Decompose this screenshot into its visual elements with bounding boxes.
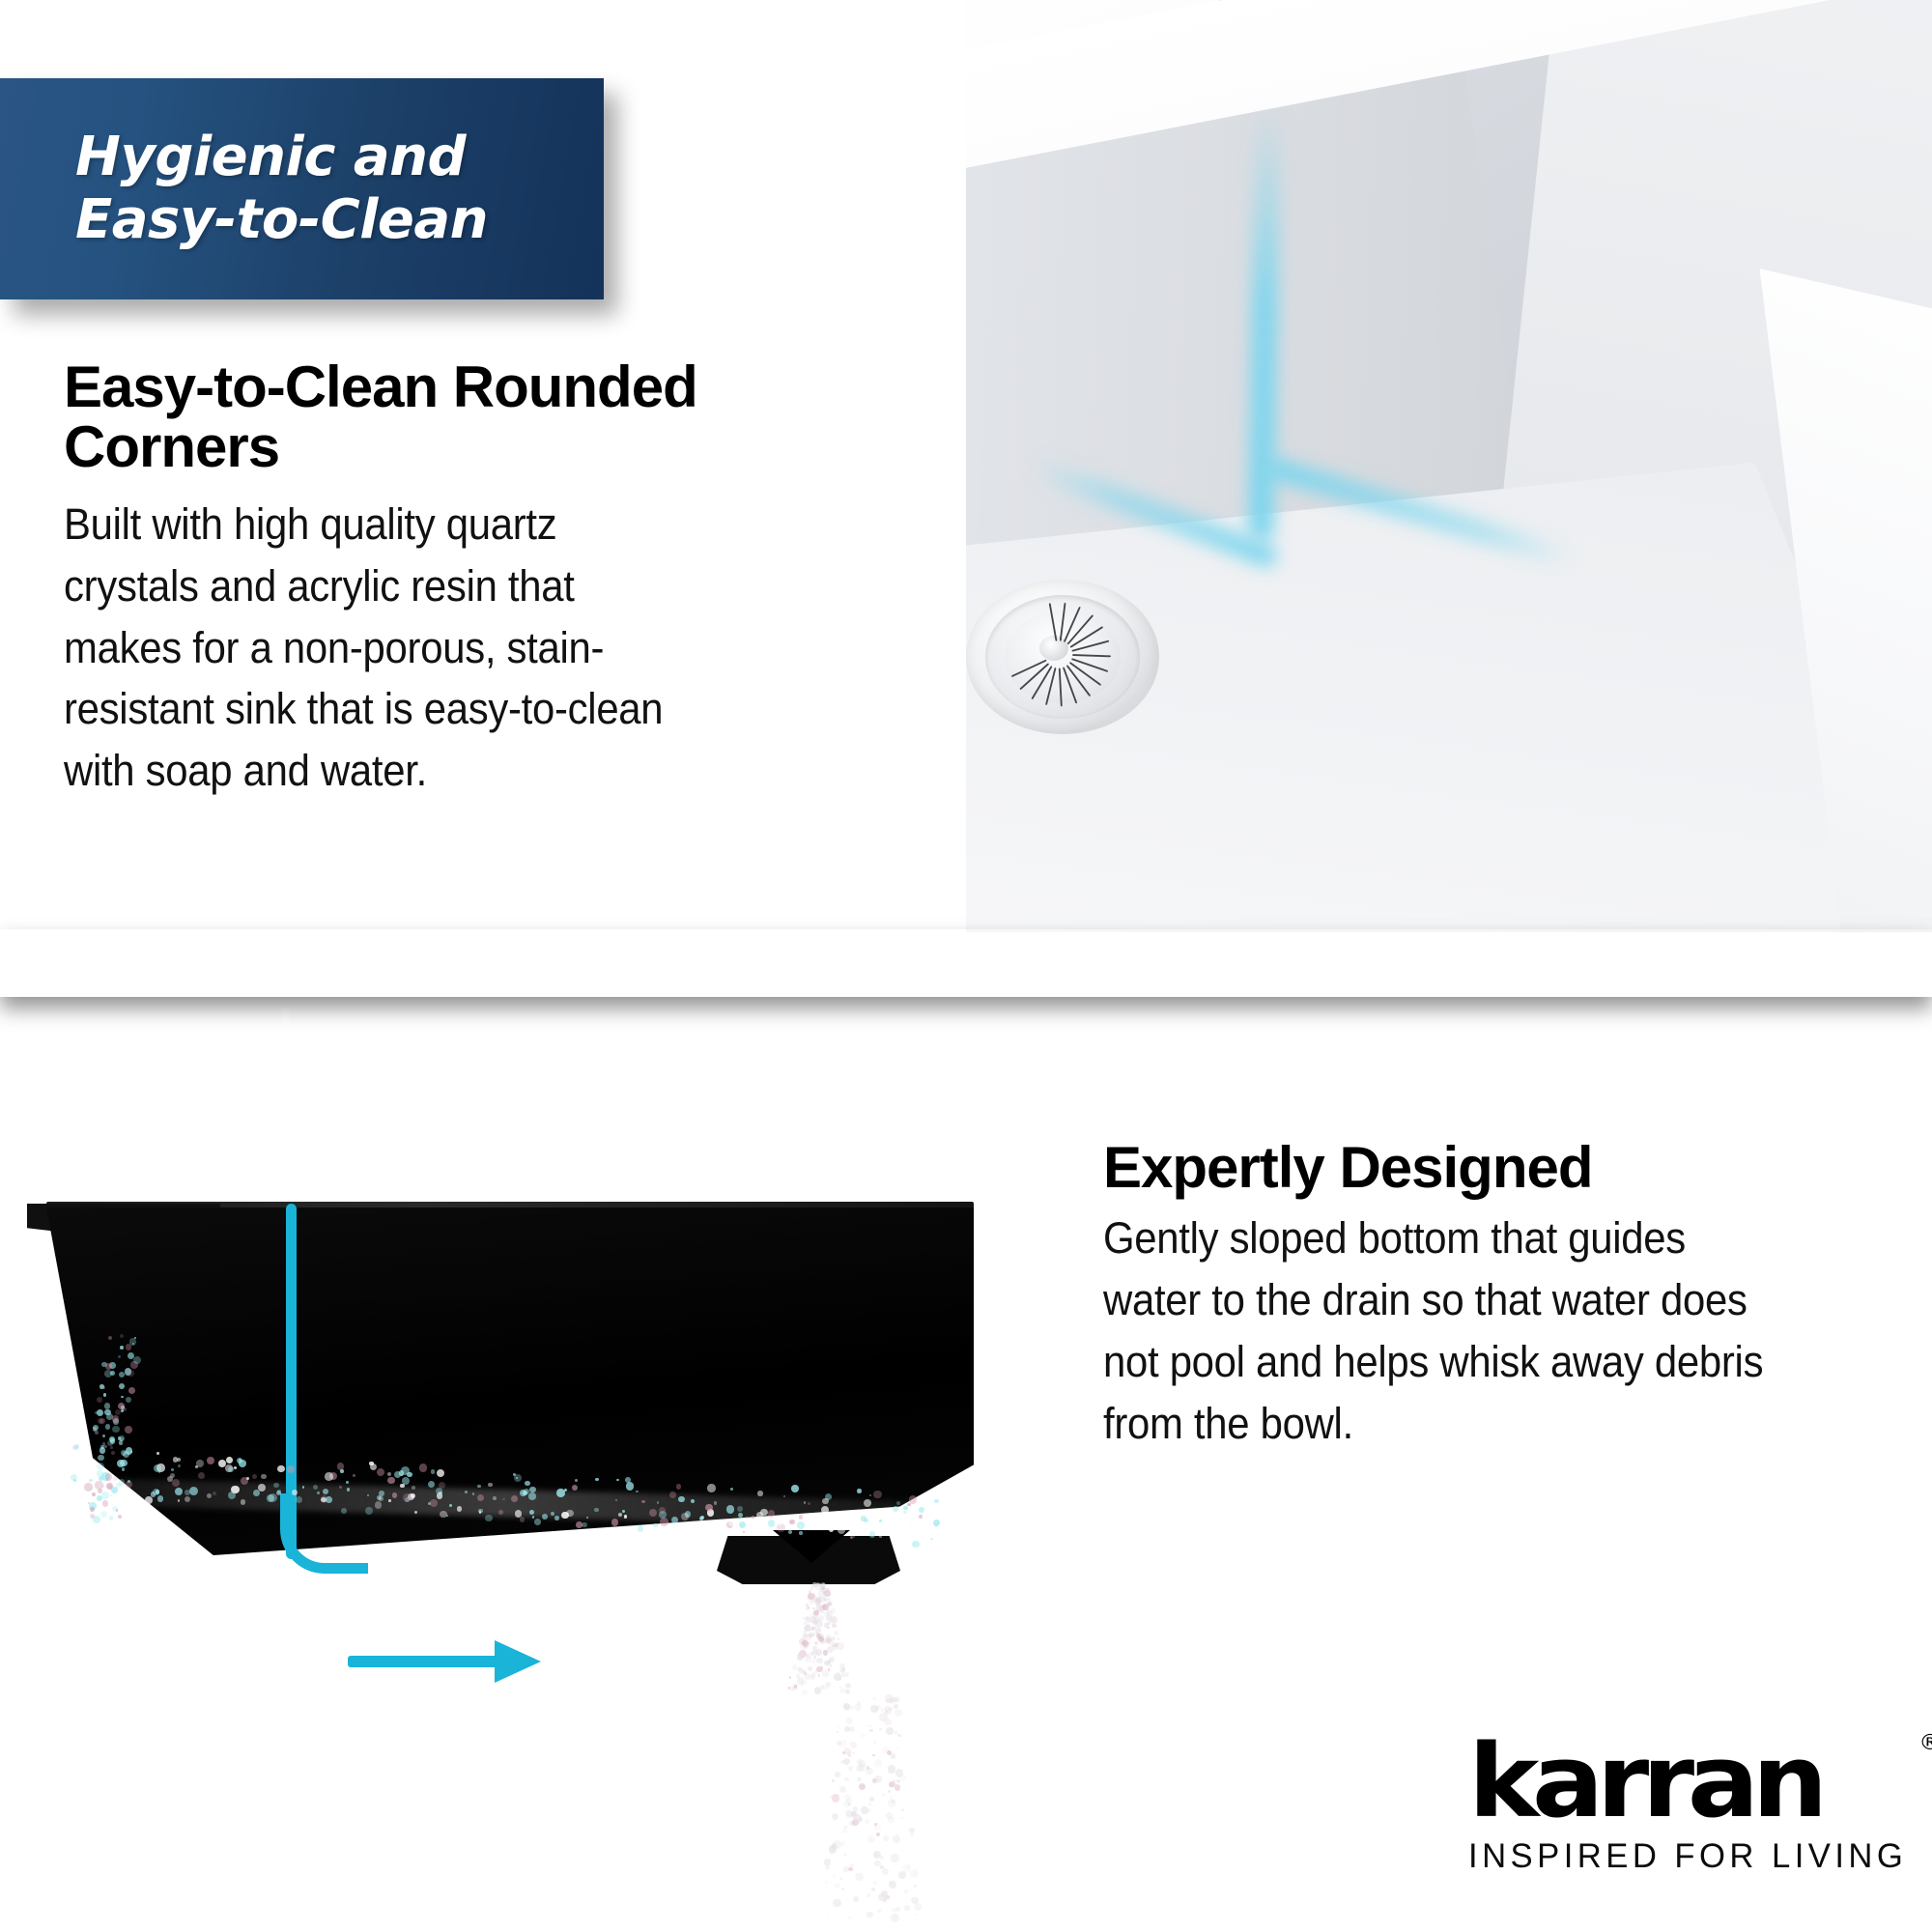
drain-outflow-droplet xyxy=(867,1912,873,1918)
water-splash-particle xyxy=(120,1437,124,1441)
water-splash-particle xyxy=(277,1465,285,1473)
drain-outflow-droplet xyxy=(840,1689,845,1693)
black-sink-photo xyxy=(0,1014,1024,1690)
water-splash-particle xyxy=(472,1492,474,1494)
drain-outflow-droplet xyxy=(857,1701,861,1705)
drain-outflow-droplet xyxy=(830,1618,835,1623)
falling-water-stream xyxy=(282,1005,289,1217)
water-splash-particle xyxy=(157,1495,164,1502)
drain-outflow-droplet xyxy=(850,1706,853,1709)
water-splash-particle xyxy=(705,1504,713,1512)
water-splash-particle xyxy=(768,1520,775,1526)
water-splash-particle xyxy=(746,1517,748,1519)
water-splash-particle xyxy=(102,1500,108,1506)
drain-outflow-droplet xyxy=(904,1889,908,1893)
water-splash-particle xyxy=(195,1465,198,1468)
drain-outflow-droplet xyxy=(848,1917,850,1918)
water-splash-particle xyxy=(554,1516,559,1520)
drain-outflow-droplet xyxy=(893,1835,900,1843)
water-splash-particle xyxy=(738,1513,743,1518)
drain-outflow-droplet xyxy=(867,1893,870,1896)
bottom-heading: Expertly Designed xyxy=(1103,1138,1818,1198)
banner-line-1: Hygienic and xyxy=(75,127,488,189)
water-splash-particle xyxy=(912,1541,919,1548)
water-splash-particle xyxy=(402,1477,410,1485)
drain-outflow-droplet xyxy=(834,1631,838,1635)
drain-outflow-droplet xyxy=(827,1621,831,1625)
water-splash-particle xyxy=(241,1499,246,1505)
drain-outflow-droplet xyxy=(882,1794,884,1796)
drain-outflow-droplet xyxy=(810,1587,813,1590)
drain-outflow-droplet xyxy=(886,1710,888,1712)
drain-outflow-droplet xyxy=(814,1583,821,1590)
drain-outflow-droplet xyxy=(843,1853,847,1857)
water-splash-particle xyxy=(392,1492,397,1497)
water-splash-particle xyxy=(520,1490,526,1496)
water-splash-particle xyxy=(302,1486,304,1488)
drain-outflow-droplet xyxy=(844,1747,851,1754)
drain-outflow-droplet xyxy=(910,1869,919,1878)
water-splash-particle xyxy=(89,1479,92,1482)
water-splash-particle xyxy=(125,1426,132,1434)
water-splash-particle xyxy=(551,1512,554,1516)
drain-outflow-droplet xyxy=(907,1864,911,1868)
drain-outflow-droplet xyxy=(835,1883,840,1889)
drain-outflow-droplet xyxy=(844,1826,846,1828)
water-splash-particle xyxy=(525,1481,529,1486)
karran-wordmark-text: karran xyxy=(1468,1722,1821,1840)
water-splash-particle xyxy=(99,1447,105,1453)
water-splash-particle xyxy=(412,1486,415,1490)
water-splash-particle xyxy=(104,1403,110,1408)
karran-tagline: INSPIRED FOR LIVING xyxy=(1468,1837,1908,1876)
water-splash-particle xyxy=(919,1507,924,1513)
water-flow-curve-icon xyxy=(280,1493,368,1574)
drain-outflow-droplet xyxy=(837,1642,844,1650)
drain-outflow-droplet xyxy=(833,1840,841,1849)
water-splash-particle xyxy=(207,1493,212,1498)
drain-outflow-droplet xyxy=(874,1823,877,1826)
drain-outflow-droplet xyxy=(900,1776,906,1781)
drain-outflow-droplet xyxy=(893,1779,895,1782)
drain-outflow-droplet xyxy=(820,1685,825,1690)
water-splash-particle xyxy=(198,1472,205,1479)
water-splash-particle xyxy=(930,1538,932,1540)
water-splash-particle xyxy=(226,1457,233,1463)
water-splash-particle xyxy=(104,1370,112,1378)
drain-outflow-droplet xyxy=(827,1646,833,1652)
drain-outflow-droplet xyxy=(852,1752,854,1754)
water-splash-particle xyxy=(90,1514,95,1519)
drain-outflow-droplet xyxy=(832,1794,839,1802)
drain-outflow-droplet xyxy=(816,1658,822,1663)
drain-outflow-droplet xyxy=(891,1854,899,1862)
drain-outflow-droplet xyxy=(843,1866,849,1872)
water-splash-particle xyxy=(339,1486,342,1489)
water-splash-particle xyxy=(120,1334,124,1338)
water-splash-particle xyxy=(829,1527,834,1532)
water-splash-particle xyxy=(375,1501,383,1509)
water-splash-particle xyxy=(728,1520,735,1526)
drain-outflow-droplet xyxy=(809,1600,813,1605)
water-splash-particle xyxy=(145,1496,152,1503)
drain-outflow-droplet xyxy=(865,1819,869,1824)
drain-outflow-droplet xyxy=(789,1676,791,1678)
drain-outflow-droplet xyxy=(869,1797,873,1801)
drain-outflow-droplet xyxy=(825,1688,827,1690)
drain-outflow-droplet xyxy=(832,1779,835,1782)
drain-outflow-droplet xyxy=(874,1759,883,1768)
water-splash-particle xyxy=(493,1496,497,1500)
drain-outflow-droplet xyxy=(868,1803,871,1805)
water-splash-particle xyxy=(113,1476,118,1481)
drain-outflow-droplet xyxy=(806,1604,809,1606)
banner-text: Hygienic and Easy-to-Clean xyxy=(0,127,488,252)
water-splash-particle xyxy=(788,1530,792,1534)
water-splash-particle xyxy=(529,1487,536,1493)
water-splash-particle xyxy=(228,1466,234,1472)
drain-outflow-droplet xyxy=(816,1634,821,1638)
water-splash-particle xyxy=(128,1370,133,1376)
drain-outflow-droplet xyxy=(897,1734,901,1738)
water-splash-particle xyxy=(100,1511,106,1517)
drain-outflow-droplet xyxy=(877,1909,881,1913)
water-splash-particle xyxy=(436,1488,442,1494)
sink-drain-strainer xyxy=(966,580,1159,734)
drain-outflow-droplet xyxy=(896,1747,898,1749)
water-splash-particle xyxy=(120,1460,128,1467)
water-splash-particle xyxy=(926,1530,930,1534)
drain-outflow-droplet xyxy=(861,1733,866,1738)
water-splash-particle xyxy=(799,1531,802,1534)
drain-outflow-droplet xyxy=(914,1903,922,1911)
drain-outflow-droplet xyxy=(824,1859,831,1865)
water-splash-particle xyxy=(618,1513,622,1517)
water-splash-particle xyxy=(171,1468,174,1471)
drain-outflow-droplet xyxy=(806,1606,810,1610)
drain-outflow-droplet xyxy=(839,1686,841,1688)
water-splash-particle xyxy=(693,1524,698,1530)
drain-outflow-droplet xyxy=(828,1668,830,1670)
water-splash-particle xyxy=(457,1506,463,1512)
infographic-canvas: Hygienic and Easy-to-Clean Easy-to-Clean… xyxy=(0,0,1932,1932)
water-splash-particle xyxy=(768,1510,775,1517)
water-splash-particle xyxy=(379,1496,384,1501)
water-splash-particle xyxy=(97,1409,103,1416)
water-splash-particle xyxy=(808,1502,810,1505)
water-splash-particle xyxy=(178,1499,180,1501)
drain-outflow-droplet xyxy=(866,1768,873,1776)
drain-outflow-droplet xyxy=(901,1808,905,1812)
drain-outflow-droplet xyxy=(886,1727,894,1735)
water-splash-particle xyxy=(850,1536,853,1539)
drain-outflow-droplet xyxy=(904,1905,910,1911)
drain-outflow-droplet xyxy=(869,1725,871,1727)
water-splash-particle xyxy=(228,1492,236,1499)
water-splash-particle xyxy=(287,1465,295,1473)
drain-outflow-droplet xyxy=(842,1828,848,1833)
drain-outflow-droplet xyxy=(848,1766,853,1771)
water-splash-particle xyxy=(861,1516,867,1521)
drain-outflow-droplet xyxy=(881,1709,883,1711)
water-splash-particle xyxy=(175,1488,183,1495)
water-splash-particle xyxy=(115,1409,121,1415)
water-splash-particle xyxy=(246,1477,249,1480)
water-splash-particle xyxy=(485,1515,493,1522)
water-splash-particle xyxy=(479,1511,481,1513)
karran-logo: karran ® INSPIRED FOR LIVING xyxy=(1468,1731,1913,1895)
section-divider-bar xyxy=(0,929,1932,997)
drain-outflow-droplet xyxy=(890,1708,893,1711)
water-splash-particle xyxy=(111,1487,117,1492)
water-splash-particle xyxy=(252,1474,257,1479)
drain-outflow-droplet xyxy=(894,1704,898,1709)
drain-outflow-droplet xyxy=(914,1885,917,1888)
drain-outflow-droplet xyxy=(900,1817,902,1819)
water-splash-particle xyxy=(292,1490,298,1495)
drain-outflow-droplet xyxy=(878,1893,886,1901)
water-splash-particle xyxy=(387,1472,391,1476)
water-splash-particle xyxy=(370,1463,377,1470)
drain-outflow-droplet xyxy=(895,1731,897,1734)
drain-outflow-droplet xyxy=(870,1705,877,1712)
water-splash-particle xyxy=(879,1535,882,1538)
water-splash-particle xyxy=(869,1531,875,1537)
drain-outflow-droplet xyxy=(839,1786,846,1793)
water-splash-particle xyxy=(896,1513,902,1519)
water-splash-particle xyxy=(893,1506,898,1512)
water-splash-particle xyxy=(105,1363,112,1370)
drain-outflow-droplet xyxy=(894,1697,899,1703)
drain-outflow-droplet xyxy=(818,1674,821,1677)
water-splash-particle xyxy=(98,1418,103,1424)
drain-outflow-droplet xyxy=(850,1742,857,1748)
drain-outflow-droplet xyxy=(802,1690,808,1695)
drain-outflow-droplet xyxy=(882,1747,890,1754)
top-copy-block: Easy-to-Clean Rounded Corners Built with… xyxy=(64,357,750,802)
drain-outflow-droplet xyxy=(833,1874,836,1877)
drain-outflow-droplet xyxy=(846,1718,853,1724)
water-splash-particle xyxy=(857,1489,862,1493)
white-sink-photo xyxy=(966,0,1932,932)
water-splash-particle xyxy=(340,1469,344,1473)
drain-outflow-droplet xyxy=(814,1641,818,1645)
water-splash-particle xyxy=(112,1426,119,1433)
water-splash-particle xyxy=(903,1511,906,1514)
drain-outflow-droplet xyxy=(844,1726,850,1732)
water-splash-particle xyxy=(515,1510,523,1518)
drain-outflow-droplet xyxy=(888,1790,891,1793)
water-splash-particle xyxy=(595,1478,598,1481)
water-splash-particle xyxy=(789,1520,795,1525)
water-splash-particle xyxy=(118,1515,122,1519)
water-splash-particle xyxy=(822,1498,829,1505)
water-splash-particle xyxy=(325,1472,333,1481)
drain-outflow-droplet xyxy=(889,1880,895,1886)
drain-outflow-droplet xyxy=(805,1625,811,1632)
water-splash-particle xyxy=(707,1484,715,1492)
water-splash-particle xyxy=(74,1444,79,1449)
water-splash-particle xyxy=(317,1492,319,1493)
water-splash-particle xyxy=(586,1517,588,1519)
drain-outflow-droplet xyxy=(869,1729,872,1732)
drain-outflow-droplet xyxy=(832,1624,837,1629)
drain-outflow-droplet xyxy=(848,1804,851,1806)
drain-outflow-droplet xyxy=(829,1603,832,1605)
banner-line-2: Easy-to-Clean xyxy=(75,189,488,252)
water-splash-particle xyxy=(326,1496,332,1503)
water-splash-particle xyxy=(92,1492,96,1496)
water-splash-particle xyxy=(156,1490,160,1494)
drain-outflow-droplet xyxy=(874,1741,876,1743)
karran-wordmark: karran ® xyxy=(1468,1731,1932,1832)
water-splash-particle xyxy=(760,1509,768,1517)
water-splash-particle xyxy=(185,1490,190,1495)
drain-outflow-droplet xyxy=(853,1896,859,1902)
drain-outflow-droplet xyxy=(891,1753,896,1759)
water-splash-particle xyxy=(121,1450,127,1456)
water-splash-particle xyxy=(903,1506,908,1511)
drain-outflow-droplet xyxy=(888,1816,895,1823)
water-splash-particle xyxy=(103,1393,106,1396)
drain-outflow-droplet xyxy=(882,1868,889,1875)
water-splash-particle xyxy=(864,1499,871,1507)
water-splash-particle xyxy=(112,1415,120,1423)
water-splash-particle xyxy=(430,1499,438,1507)
drain-outflow-droplet xyxy=(812,1646,818,1652)
drain-outflow-droplet xyxy=(797,1653,804,1660)
drain-outflow-droplet xyxy=(810,1674,815,1680)
drain-outflow-droplet xyxy=(876,1833,880,1836)
drain-outflow-droplet xyxy=(916,1914,918,1916)
water-splash-particle xyxy=(105,1424,111,1430)
drain-outflow-droplet xyxy=(854,1704,861,1711)
water-splash-particle xyxy=(934,1499,939,1504)
drain-outflow-droplet xyxy=(840,1760,844,1764)
water-splash-particle xyxy=(97,1495,102,1501)
water-splash-particle xyxy=(387,1477,394,1484)
drain-outflow-droplet xyxy=(834,1673,841,1681)
drain-outflow-droplet xyxy=(838,1637,839,1639)
water-splash-particle xyxy=(528,1492,535,1499)
water-splash-particle xyxy=(90,1507,95,1512)
drain-outflow-droplet xyxy=(844,1672,849,1677)
registered-trademark-icon: ® xyxy=(1918,1733,1932,1754)
drain-outflow-droplet xyxy=(845,1683,851,1689)
drain-outflow-droplet xyxy=(811,1659,816,1663)
drain-outflow-droplet xyxy=(830,1607,836,1613)
drain-outflow-droplet xyxy=(855,1873,863,1881)
water-splash-particle xyxy=(109,1516,114,1520)
drain-outflow-droplet xyxy=(844,1777,848,1781)
water-splash-particle xyxy=(838,1525,845,1533)
water-splash-particle xyxy=(791,1485,798,1492)
water-splash-particle xyxy=(739,1521,747,1529)
drain-outflow-droplet xyxy=(840,1841,844,1845)
water-splash-particle xyxy=(575,1479,578,1482)
drain-outflow-droplet xyxy=(790,1687,794,1690)
water-splash-particle xyxy=(419,1463,428,1472)
drain-outflow-droplet xyxy=(909,1828,915,1833)
drain-outflow-droplet xyxy=(873,1881,877,1885)
drain-outflow-droplet xyxy=(879,1728,882,1731)
drain-outflow-droplet xyxy=(835,1772,840,1777)
drain-outflow-droplet xyxy=(867,1835,875,1843)
water-splash-particle xyxy=(625,1477,631,1483)
hygienic-banner: Hygienic and Easy-to-Clean xyxy=(0,78,604,299)
drain-outflow-droplet xyxy=(858,1777,862,1781)
water-splash-particle xyxy=(110,1494,112,1496)
water-splash-particle xyxy=(477,1485,481,1489)
drain-outflow-droplet xyxy=(812,1626,816,1630)
water-splash-particle xyxy=(854,1517,861,1523)
sink-photo-clip xyxy=(966,0,1932,932)
drain-outflow-droplet xyxy=(827,1627,829,1629)
drain-outflow-droplet xyxy=(821,1665,824,1668)
drain-outflow-droplet xyxy=(839,1877,843,1881)
drain-outflow-droplet xyxy=(873,1697,876,1700)
drain-outflow-droplet xyxy=(889,1781,895,1787)
water-splash-particle xyxy=(594,1508,599,1513)
bottom-copy-block: Expertly Designed Gently sloped bottom t… xyxy=(1103,1138,1818,1455)
water-splash-particle xyxy=(638,1525,643,1531)
water-splash-particle xyxy=(726,1505,735,1514)
water-splash-particle xyxy=(119,1479,125,1485)
water-splash-particle xyxy=(71,1474,77,1481)
drain-outflow-droplet xyxy=(898,1871,906,1879)
water-splash-particle xyxy=(377,1468,384,1476)
water-splash-particle xyxy=(101,1492,109,1499)
drain-outflow-droplet xyxy=(888,1765,895,1773)
water-splash-particle xyxy=(440,1511,447,1519)
water-splash-particle xyxy=(128,1387,135,1394)
water-splash-particle xyxy=(743,1531,745,1533)
water-splash-particle xyxy=(660,1518,668,1526)
drain-outflow-droplet xyxy=(890,1795,894,1799)
top-body-text: Built with high quality quartz crystals … xyxy=(64,494,701,802)
drain-outflow-droplet xyxy=(853,1806,858,1811)
water-splash-particle xyxy=(126,1481,131,1487)
drain-outflow-droplet xyxy=(832,1813,838,1820)
water-splash-particle xyxy=(797,1521,805,1529)
water-splash-particle xyxy=(653,1523,658,1528)
drain-outflow-droplet xyxy=(867,1808,871,1813)
drain-outflow-droplet xyxy=(828,1916,830,1918)
water-splash-particle xyxy=(465,1491,468,1493)
water-splash-particle xyxy=(919,1515,923,1519)
water-splash-particle xyxy=(799,1515,804,1520)
water-splash-particle xyxy=(119,1383,125,1389)
drain-outflow-droplet xyxy=(883,1835,889,1841)
water-splash-particle xyxy=(110,1446,113,1449)
water-splash-particle xyxy=(616,1479,619,1482)
drain-outflow-droplet xyxy=(825,1881,828,1884)
drain-outflow-droplet xyxy=(815,1601,821,1606)
water-splash-particle xyxy=(173,1457,178,1462)
water-splash-particle xyxy=(879,1520,881,1521)
drain-outflow-droplet xyxy=(892,1908,897,1914)
drain-outflow-droplet xyxy=(827,1661,831,1664)
water-splash-particle xyxy=(534,1519,541,1525)
drain-outflow-droplet xyxy=(837,1731,838,1733)
drain-outflow-droplet xyxy=(896,1779,900,1783)
drain-outflow-droplet xyxy=(822,1670,828,1676)
water-splash-particle xyxy=(622,1510,625,1513)
water-splash-particle xyxy=(657,1501,660,1504)
water-splash-particle xyxy=(296,1496,302,1503)
drain-outflow-droplet xyxy=(872,1754,875,1757)
drain-outflow-droplet xyxy=(890,1762,892,1764)
